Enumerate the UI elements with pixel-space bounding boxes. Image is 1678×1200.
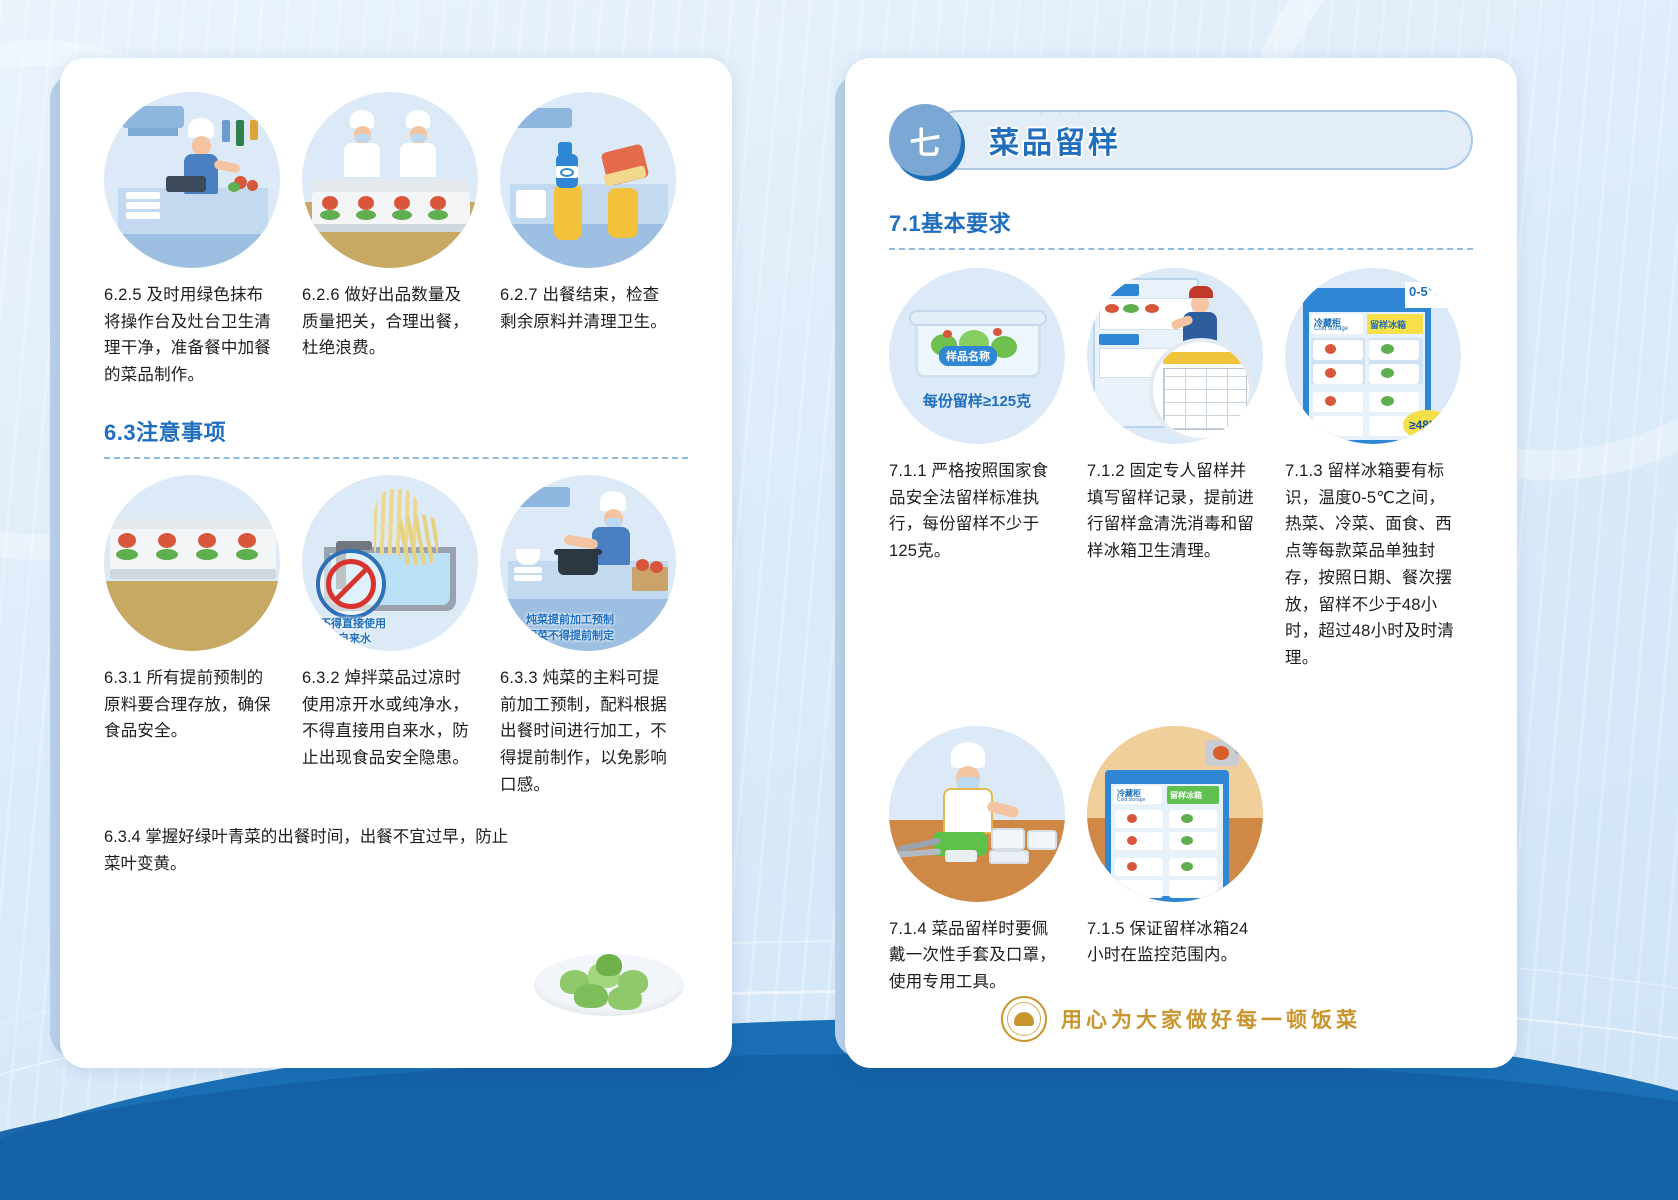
paragraph-6-2-7: 6.2.7 出餐结束，检查剩余原料并清理卫生。 — [500, 282, 676, 389]
text-row-71: 7.1.1 严格按照国家食品安全法留样标准执行，每份留样不少于125克。 7.1… — [889, 458, 1473, 672]
sample-fridge-label: 留样冰箱 — [1370, 318, 1406, 331]
footer: 用心为大家做好每一顿饭菜 — [845, 996, 1517, 1042]
section-divider-71 — [889, 248, 1473, 250]
green-vegetable-plate-icon — [534, 904, 684, 1024]
paragraph-6-3-4: 6.3.4 掌握好绿叶青菜的出餐时间，出餐不宜过早，防止菜叶变黄。 — [104, 824, 524, 877]
cold-storage-label-en-2: Cold storage — [1117, 797, 1145, 803]
paragraph-7-1-4: 7.1.4 菜品留样时要佩戴一次性手套及口罩，使用专用工具。 — [889, 916, 1065, 996]
illustration-row-714: 冷藏柜 Cold storage 留样冰箱 — [889, 726, 1473, 902]
illustration-row-63: 不得直接使用 自来水 — [104, 475, 688, 651]
right-page-panel: · · · 七 菜品留样 7.1基本要求 样品名称 每份留样≥125克 — [845, 58, 1517, 1068]
paragraph-6-3-2: 6.3.2 焯拌菜品过凉时使用凉开水或纯净水，不得直接用自来水，防止出现食品安全… — [302, 665, 478, 799]
temperature-label: 0-5℃ — [1409, 284, 1444, 300]
section-heading-63: 6.3注意事项 — [104, 415, 688, 447]
illustration-row-71: 样品名称 每份留样≥125克 — [889, 268, 1473, 444]
paragraph-6-3-3: 6.3.3 炖菜的主料可提前加工预制，配料根据出餐时间进行加工，不得提前制作，以… — [500, 665, 676, 799]
sample-box-icon: 样品名称 每份留样≥125克 — [889, 268, 1065, 444]
duration-label: ≥48H — [1409, 418, 1438, 432]
left-page-panel: 6.2.5 及时用绿色抹布将操作台及灶台卫生清理干净，准备餐中加餐的菜品制作。 … — [60, 58, 732, 1068]
sample-record-sheet-icon — [1087, 268, 1263, 444]
monitored-refrigerator-icon: 冷藏柜 Cold storage 留样冰箱 — [1087, 726, 1263, 902]
text-row-714: 7.1.4 菜品留样时要佩戴一次性手套及口罩，使用专用工具。 7.1.5 保证留… — [889, 916, 1473, 996]
cold-storage-label-en: Cold storage — [1314, 326, 1348, 332]
no-tap-water-noodles-icon: 不得直接使用 自来水 — [302, 475, 478, 651]
prepared-dishes-tray-icon — [104, 475, 280, 651]
chef-weighing-sample-icon — [889, 726, 1065, 902]
footer-slogan: 用心为大家做好每一顿饭菜 — [1061, 1004, 1361, 1034]
paragraph-7-1-1: 7.1.1 严格按照国家食品安全法留样标准执行，每份留样不少于125克。 — [889, 458, 1065, 672]
serving-line-dishes-icon — [302, 92, 478, 268]
paragraph-7-1-5: 7.1.5 保证留样冰箱24小时在监控范围内。 — [1087, 916, 1263, 996]
chapter-title: 菜品留样 — [989, 118, 1121, 162]
text-row-62: 6.2.5 及时用绿色抹布将操作台及灶台卫生清理干净，准备餐中加餐的菜品制作。 … — [104, 282, 688, 389]
sample-fridge-label-2: 留样冰箱 — [1170, 790, 1202, 801]
section-divider-63 — [104, 457, 688, 459]
text-spacer — [1285, 916, 1461, 996]
paragraph-6-2-6: 6.2.6 做好出品数量及质量把关，合理出餐，杜绝浪费。 — [302, 282, 478, 389]
paragraph-6-3-1: 6.3.1 所有提前预制的原料要合理存放，确保食品安全。 — [104, 665, 280, 799]
paragraph-7-1-3: 7.1.3 留样冰箱要有标识，温度0-5℃之间，热菜、冷菜、面食、西点等每款菜品… — [1285, 458, 1461, 672]
seal-logo-icon — [1001, 996, 1047, 1042]
sample-name-tag: 样品名称 — [939, 346, 997, 366]
chef-cleaning-counter-icon — [104, 92, 280, 268]
sample-weight-label: 每份留样≥125克 — [923, 390, 1031, 411]
section-heading-71: 7.1基本要求 — [889, 206, 1473, 238]
chapter-header: · · · 七 菜品留样 — [889, 104, 1473, 176]
text-row-63: 6.3.1 所有提前预制的原料要合理存放，确保食品安全。 6.3.2 焯拌菜品过… — [104, 665, 688, 799]
paragraph-6-2-5: 6.2.5 及时用绿色抹布将操作台及灶台卫生清理干净，准备餐中加餐的菜品制作。 — [104, 282, 280, 389]
chapter-number-badge: 七 — [889, 104, 961, 176]
illustration-spacer — [1285, 726, 1461, 902]
sample-refrigerator-icon: 冷藏柜 Cold storage 留样冰箱 0-5℃ — [1285, 268, 1461, 444]
spray-bottle-cleaning-icon — [500, 92, 676, 268]
chef-stewing-icon: 炖菜提前加工预制 配菜不得提前制定 — [500, 475, 676, 651]
paragraph-7-1-2: 7.1.2 固定专人留样并填写留样记录，提前进行留样盒清洗消毒和留样冰箱卫生清理… — [1087, 458, 1263, 672]
illustration-row-62 — [104, 92, 688, 268]
